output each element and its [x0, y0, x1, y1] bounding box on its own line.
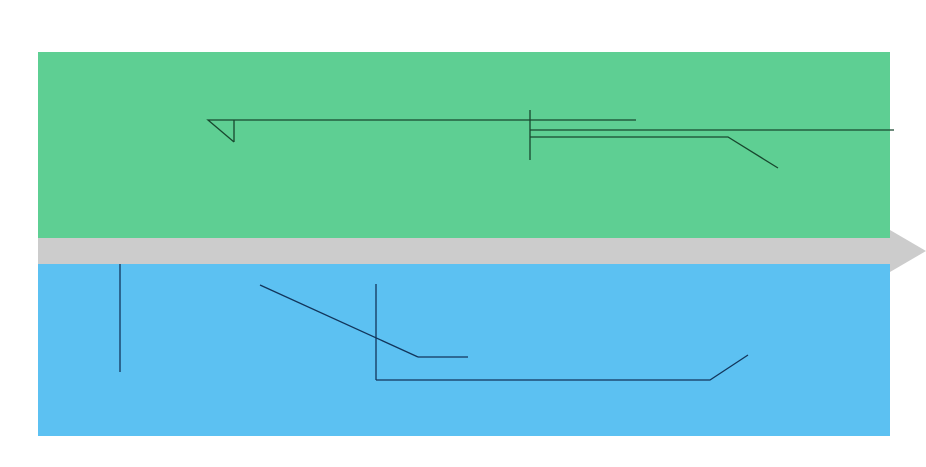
panel-on-premises	[38, 52, 890, 238]
timeline-band	[38, 238, 926, 264]
timeline-arrow-icon	[890, 230, 926, 272]
panel-cloud-services	[38, 264, 890, 436]
timeline-band-body	[38, 238, 890, 264]
reallocation-chart	[38, 52, 926, 436]
